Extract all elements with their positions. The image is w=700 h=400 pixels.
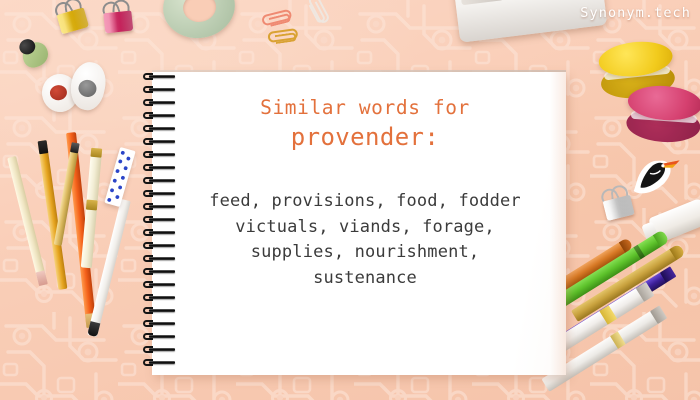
notepad-content: Similar words for provender: feed, provi… — [168, 72, 562, 375]
synonym-line: victuals, viands, forage, — [168, 215, 562, 241]
macaron-pink — [625, 83, 700, 148]
query-word: provender: — [168, 121, 562, 154]
synonym-line: supplies, nourishment, — [168, 240, 562, 266]
synonym-line: feed, provisions, food, fodder — [168, 189, 562, 215]
site-logo[interactable]: Synonym.tech — [580, 5, 691, 21]
toucan-sticker — [630, 150, 682, 199]
desk-background: Similar words for provender: feed, provi… — [0, 0, 700, 400]
binder-clip-pink — [100, 4, 137, 33]
synonym-line: sustenance — [168, 266, 562, 292]
title-block: Similar words for provender: — [168, 95, 562, 154]
synonym-list: feed, provisions, food, foddervictuals, … — [168, 189, 562, 291]
title-line: Similar words for — [168, 95, 562, 121]
